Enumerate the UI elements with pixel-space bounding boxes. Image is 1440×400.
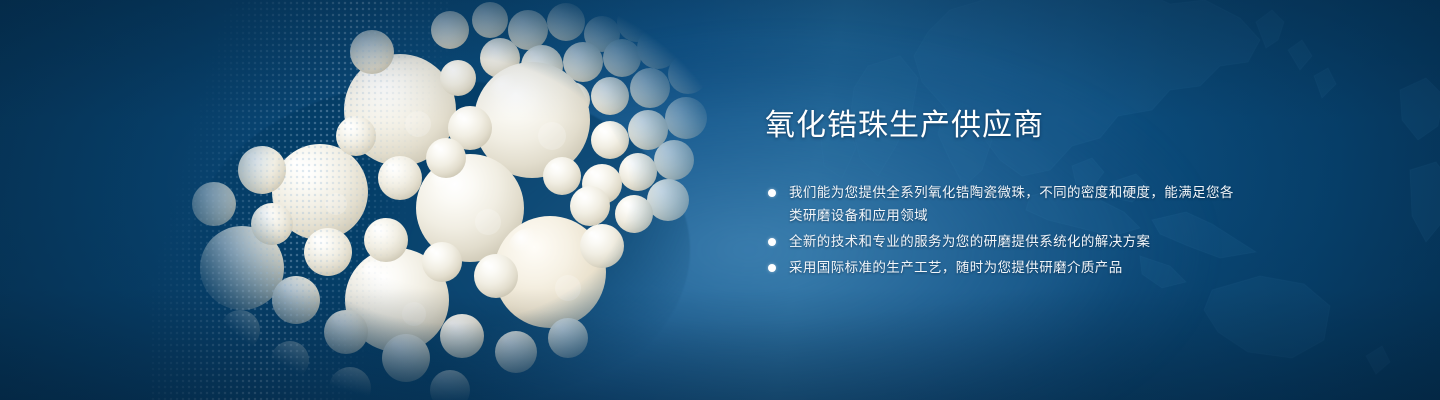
bullet-dot-icon [768,189,776,197]
feature-bullet-text: 我们能为您提供全系列氧化锆陶瓷微珠，不同的密度和硬度，能满足您各类研磨设备和应用… [789,185,1234,223]
feature-bullet-list: 我们能为您提供全系列氧化锆陶瓷微珠，不同的密度和硬度，能满足您各类研磨设备和应用… [765,181,1235,279]
feature-bullet-item: 采用国际标准的生产工艺，随时为您提供研磨介质产品 [765,256,1235,279]
feature-bullet-text: 全新的技术和专业的服务为您的研磨提供系统化的解决方案 [789,234,1150,249]
hero-banner: 氧化锆珠生产供应商 我们能为您提供全系列氧化锆陶瓷微珠，不同的密度和硬度，能满足… [0,0,1440,400]
feature-bullet-item: 我们能为您提供全系列氧化锆陶瓷微珠，不同的密度和硬度，能满足您各类研磨设备和应用… [765,181,1235,227]
banner-headline: 氧化锆珠生产供应商 [765,108,1235,143]
feature-bullet-item: 全新的技术和专业的服务为您的研磨提供系统化的解决方案 [765,230,1235,253]
feature-bullet-text: 采用国际标准的生产工艺，随时为您提供研磨介质产品 [789,260,1123,275]
bullet-dot-icon [768,238,776,246]
bullet-dot-icon [768,264,776,272]
banner-copy: 氧化锆珠生产供应商 我们能为您提供全系列氧化锆陶瓷微珠，不同的密度和硬度，能满足… [765,108,1235,282]
